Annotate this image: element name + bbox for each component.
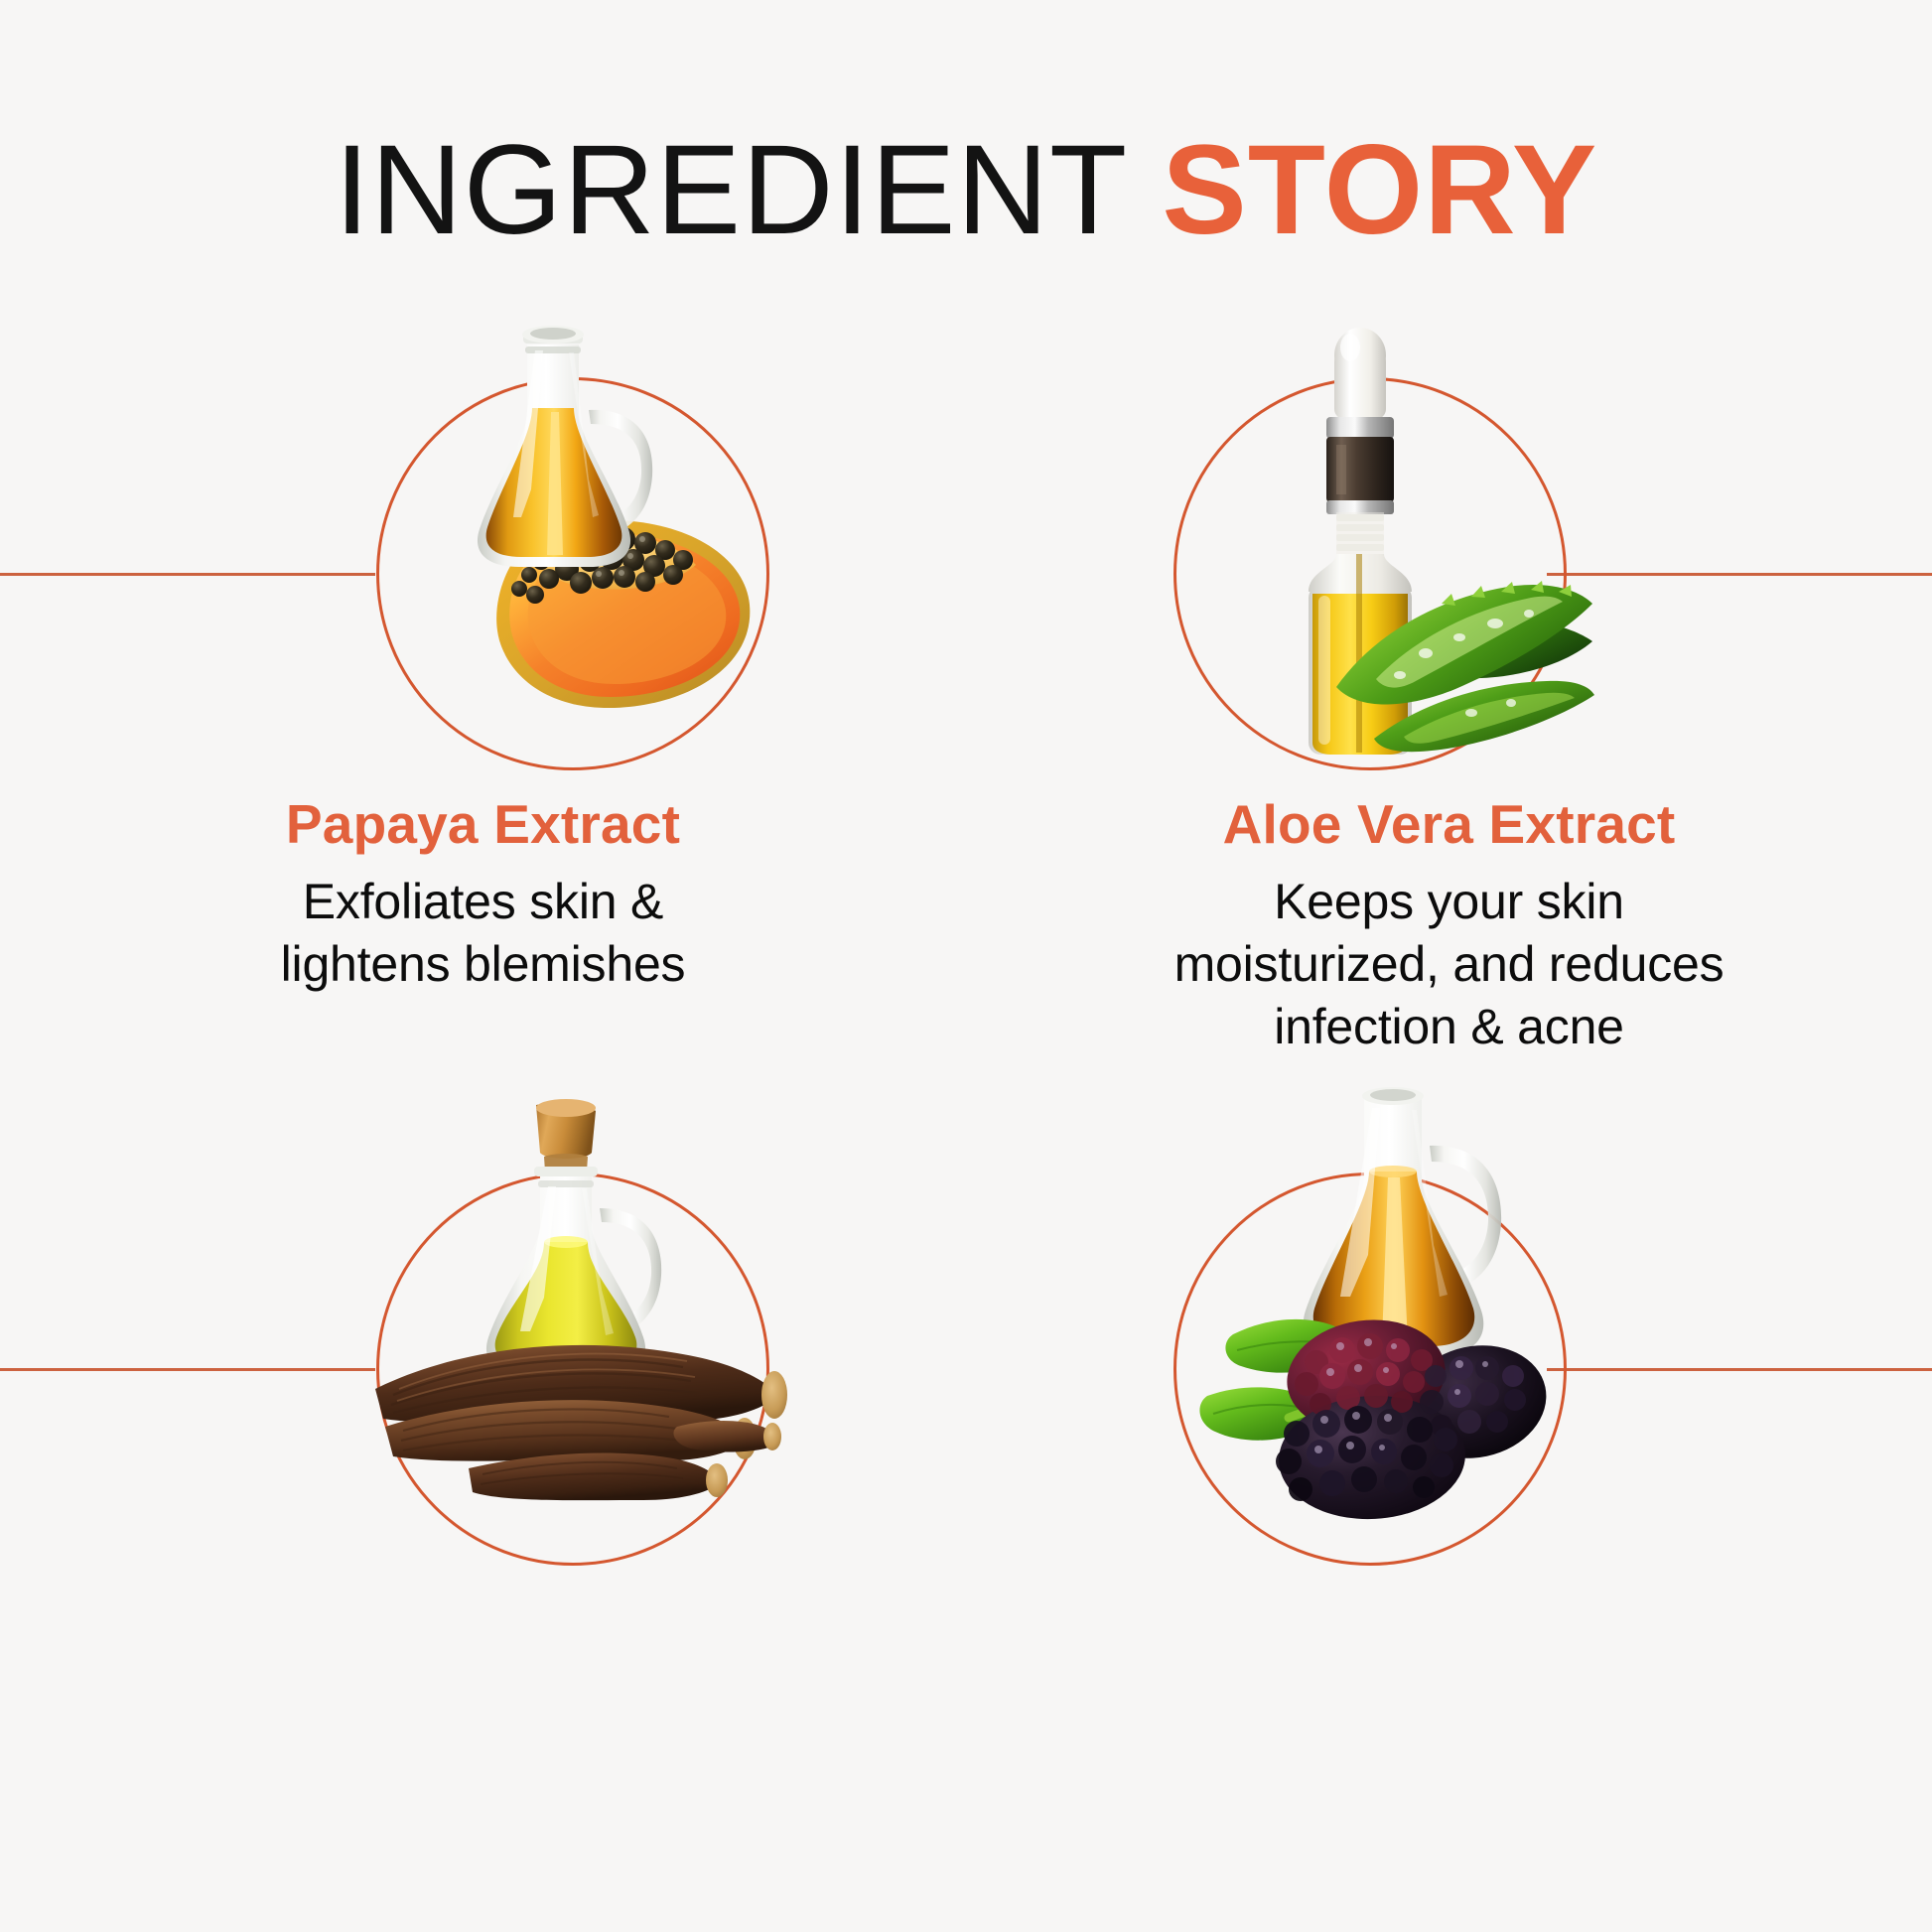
divider-row1-left: [0, 573, 375, 576]
divider-row1-right: [1547, 573, 1932, 576]
papaya-image-stage: [364, 365, 781, 782]
ingredient-name-aloe-vera: Aloe Vera Extract: [966, 792, 1932, 857]
page-title: INGREDIENT STORY: [0, 117, 1932, 263]
ingredient-description-papaya: Exfoliates skin & lightens blemishes: [0, 871, 966, 996]
mulberry-image-stage: [1162, 1161, 1579, 1578]
aloe-vera-image-stage: [1162, 365, 1579, 782]
ingredient-story-infographic: INGREDIENT STORY: [0, 0, 1932, 1932]
ingredient-description-aloe-vera: Keeps your skin moisturized, and reduces…: [966, 871, 1932, 1058]
divider-row2-right: [1547, 1368, 1932, 1371]
aloe-vera-text-block: Aloe Vera Extract Keeps your skin moistu…: [966, 792, 1932, 1058]
liquorice-root-oil-photo: [364, 1161, 781, 1578]
mulberry-oil-carafe-photo: [1162, 1161, 1579, 1578]
page-title-primary: INGREDIENT: [335, 119, 1126, 261]
page-title-accent: STORY: [1162, 119, 1597, 261]
papaya-text-block: Papaya Extract Exfoliates skin & lighten…: [0, 792, 966, 996]
papaya-oil-bottle-photo: [364, 365, 781, 782]
page-title-space: [1126, 119, 1163, 261]
ingredient-name-papaya: Papaya Extract: [0, 792, 966, 857]
aloe-vera-dropper-photo: [1162, 365, 1579, 782]
divider-row2-left: [0, 1368, 375, 1371]
liquorice-image-stage: [364, 1161, 781, 1578]
